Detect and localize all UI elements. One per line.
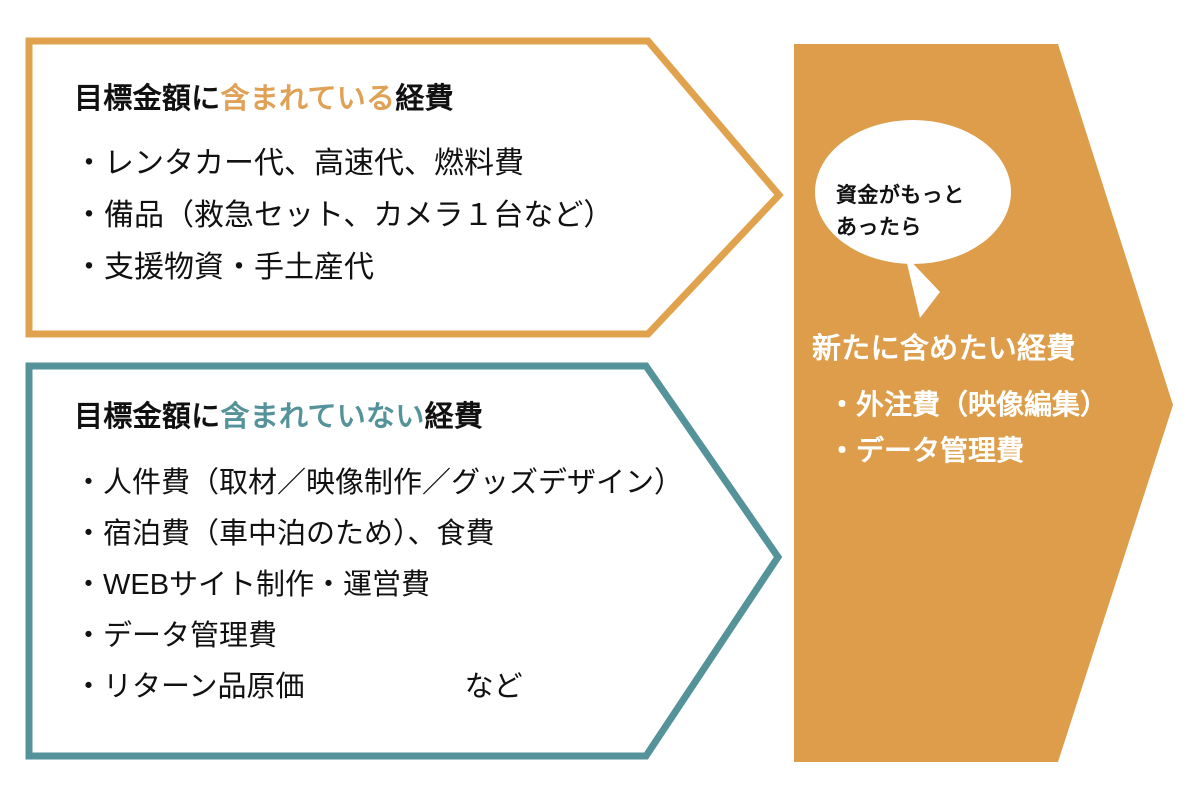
included-heading-prefix: 目標金額に [74,83,220,115]
speech-bubble-line-2: あったら [836,212,1016,244]
excluded-heading: 目標金額に含まれていない経費 [74,400,754,434]
speech-bubble-line-1: 資金がもっと [836,180,1016,212]
speech-bubble-content: 資金がもっと あったら [836,180,1016,244]
new-expenses-content: 新たに含めたい経費 ・外注費（映像編集） ・データ管理費 [812,330,1152,474]
included-heading: 目標金額に含まれている経費 [74,82,734,116]
list-item: ・レンタカー代、高速代、燃料費 [74,138,734,190]
list-item: ・外注費（映像編集） [828,382,1152,428]
list-item: ・人件費（取材／映像制作／グッズデザイン） [74,458,754,509]
included-expenses-content: 目標金額に含まれている経費 ・レンタカー代、高速代、燃料費 ・備品（救急セット、… [74,82,734,294]
etc-label: など [465,662,523,713]
diagram-canvas: 目標金額に含まれている経費 ・レンタカー代、高速代、燃料費 ・備品（救急セット、… [0,0,1200,800]
excluded-heading-prefix: 目標金額に [74,401,220,433]
new-expenses-heading: 新たに含めたい経費 [812,330,1152,368]
included-heading-suffix: 経費 [395,83,454,115]
excluded-heading-suffix: 経費 [425,401,484,433]
list-item: ・宿泊費（車中泊のため）、食費 [74,509,754,560]
list-item: ・備品（救急セット、カメラ１台など） [74,190,734,242]
excluded-bullet-list: ・人件費（取材／映像制作／グッズデザイン） ・宿泊費（車中泊のため）、食費 ・W… [74,458,754,713]
list-item-last-label: ・リターン品原価 [74,662,305,713]
list-item-last: ・リターン品原価 など [74,662,674,713]
list-item: ・支援物資・手土産代 [74,242,734,294]
excluded-expenses-content: 目標金額に含まれていない経費 ・人件費（取材／映像制作／グッズデザイン） ・宿泊… [74,400,754,713]
new-expenses-bullet-list: ・外注費（映像編集） ・データ管理費 [828,382,1152,474]
included-heading-highlight: 含まれている [220,83,395,115]
excluded-heading-highlight: 含まれていない [220,401,424,433]
list-item: ・WEBサイト制作・運営費 [74,560,754,611]
list-item: ・データ管理費 [828,428,1152,474]
list-item: ・データ管理費 [74,611,754,662]
included-bullet-list: ・レンタカー代、高速代、燃料費 ・備品（救急セット、カメラ１台など） ・支援物資… [74,138,734,294]
